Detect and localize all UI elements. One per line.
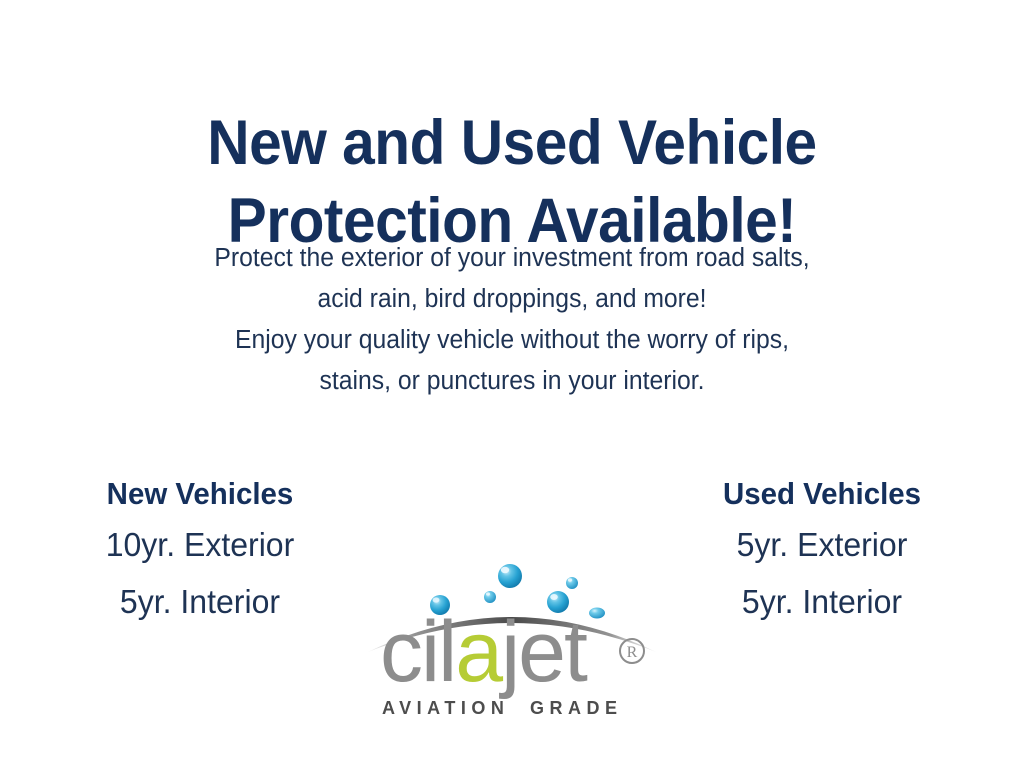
droplet-small-right-icon xyxy=(566,577,578,589)
droplet-large-top-icon xyxy=(498,564,522,588)
slide-canvas: New and Used Vehicle Protection Availabl… xyxy=(0,0,1024,768)
used-vehicles-exterior-term: 5yr. Exterior xyxy=(657,516,987,573)
droplet-tiny-mid-icon xyxy=(484,591,496,603)
new-vehicles-heading: New Vehicles xyxy=(39,472,362,516)
droplet-small-right-highlight xyxy=(568,578,572,581)
coverage-column-used-vehicles: Used Vehicles 5yr. Exterior 5yr. Interio… xyxy=(652,472,992,630)
page-title: New and Used Vehicle Protection Availabl… xyxy=(36,104,988,260)
used-vehicles-interior-term: 5yr. Interior xyxy=(657,573,987,630)
cilajet-logo-graphic: cilajet R AVIATION GRADE xyxy=(362,548,662,733)
used-vehicles-heading: Used Vehicles xyxy=(661,472,984,516)
subcopy-line-4: stains, or punctures in your interior. xyxy=(15,361,1008,402)
new-vehicles-exterior-term: 10yr. Exterior xyxy=(35,516,365,573)
headline-line-1: New and Used Vehicle xyxy=(36,104,988,182)
logo-wordmark-accent-a: a xyxy=(455,604,503,700)
subcopy-line-2: acid rain, bird droppings, and more! xyxy=(15,279,1008,320)
subcopy-line-1: Protect the exterior of your investment … xyxy=(15,238,1008,279)
new-vehicles-interior-term: 5yr. Interior xyxy=(35,573,365,630)
droplet-flat-right-icon xyxy=(589,608,605,619)
logo-wordmark-after: jet xyxy=(498,604,588,700)
droplet-large-top-highlight xyxy=(501,567,509,573)
logo-wordmark: cilajet xyxy=(380,604,588,700)
subcopy-line-3: Enjoy your quality vehicle without the w… xyxy=(15,320,1008,361)
svg-text:R: R xyxy=(627,644,638,661)
coverage-column-new-vehicles: New Vehicles 10yr. Exterior 5yr. Interio… xyxy=(30,472,370,630)
logo-tagline-left: AVIATION xyxy=(382,698,509,718)
cilajet-logo: cilajet R AVIATION GRADE xyxy=(362,548,662,733)
logo-wordmark-before: cil xyxy=(380,604,455,700)
droplet-mid-right-highlight xyxy=(550,594,558,600)
subcopy-paragraph: Protect the exterior of your investment … xyxy=(15,238,1008,402)
droplet-tiny-mid-highlight xyxy=(486,592,490,595)
droplet-left-highlight xyxy=(433,597,440,602)
logo-tagline-right: GRADE xyxy=(530,698,623,718)
